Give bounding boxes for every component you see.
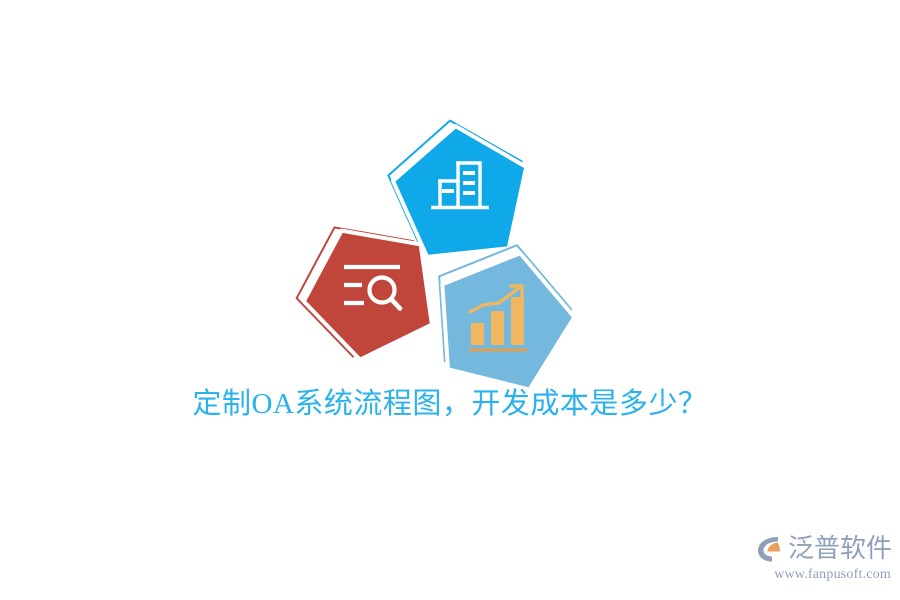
- pentagon-cluster-graphic: [295, 115, 595, 400]
- chart-bar-2: [491, 311, 504, 345]
- pentagon-lightblue-body: [423, 237, 586, 396]
- chart-bar-1: [471, 323, 484, 345]
- watermark: 泛普软件 www.fanpusoft.com: [752, 532, 892, 588]
- chart-bar-3: [511, 297, 524, 345]
- page-canvas: 定制OA系统流程图，开发成本是多少？ 泛普软件 www.fanpusoft.co…: [0, 0, 900, 600]
- pentagon-red-search: [295, 215, 440, 360]
- watermark-url: www.fanpusoft.com: [752, 566, 892, 584]
- headline-caption: 定制OA系统流程图，开发成本是多少？: [0, 383, 900, 425]
- pentagon-lightblue-chart: [427, 240, 582, 400]
- fanpu-crescent-logo-icon: [756, 534, 786, 564]
- watermark-brand-name: 泛普软件: [788, 534, 892, 564]
